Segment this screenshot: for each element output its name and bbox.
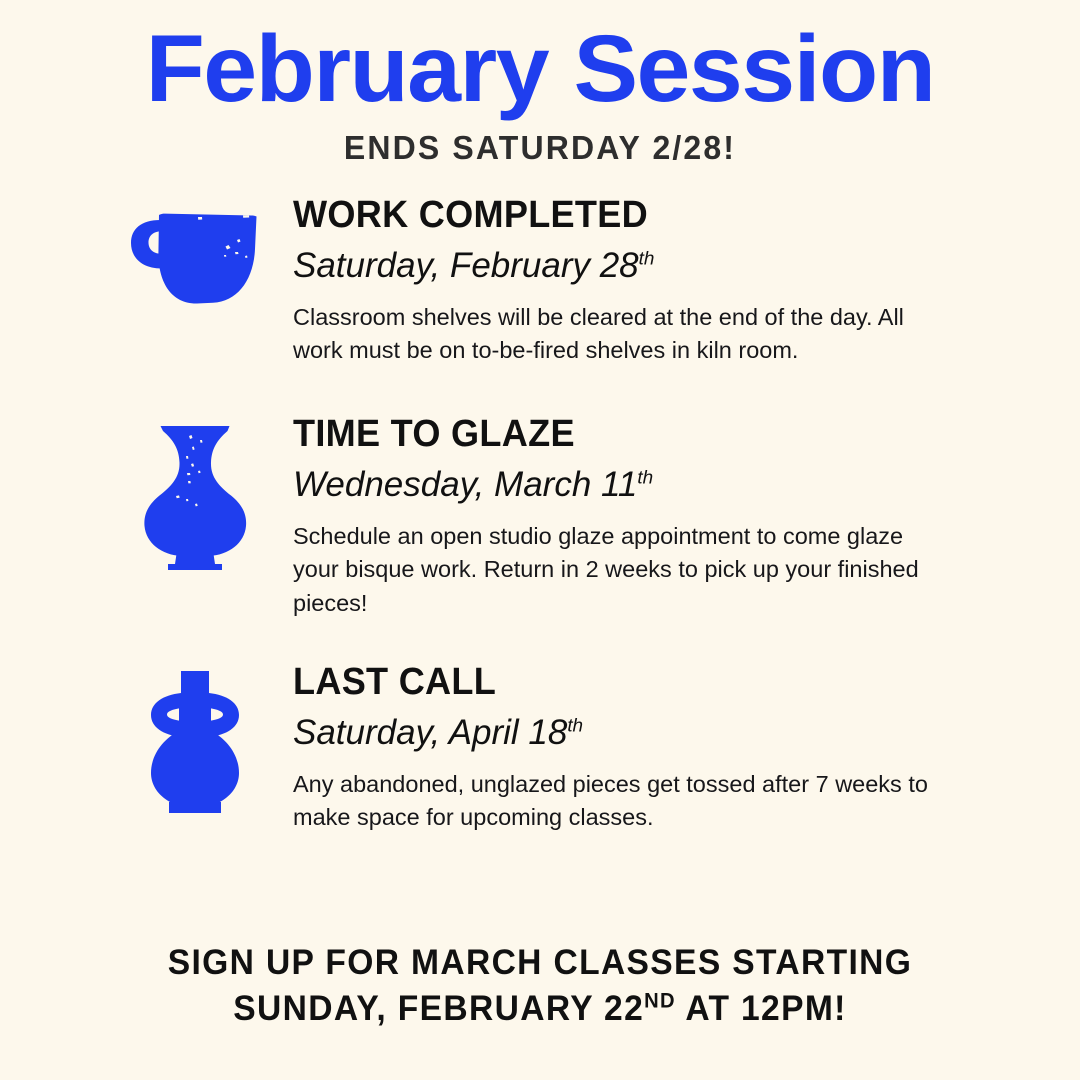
section-body: LAST CALL Saturday, April 18th Any aband…: [280, 663, 1080, 834]
amphora-icon: [110, 663, 280, 815]
section-last-call: LAST CALL Saturday, April 18th Any aband…: [0, 663, 1080, 834]
footer-date-before: SUNDAY, FEBRUARY 22: [233, 989, 644, 1028]
footer-line-2: SUNDAY, FEBRUARY 22ND AT 12PM!: [22, 986, 1059, 1032]
section-date: Saturday, February 28th: [293, 244, 948, 288]
poster-header: February Session ENDS SATURDAY 2/28!: [0, 0, 1080, 167]
section-date: Wednesday, March 11th: [293, 463, 948, 507]
section-date-main: Saturday, April 18: [293, 713, 567, 752]
mug-icon: [110, 196, 280, 314]
poster-canvas: February Session ENDS SATURDAY 2/28!: [0, 0, 1080, 1080]
page-title: February Session: [0, 22, 1080, 117]
page-subtitle: ENDS SATURDAY 2/28!: [16, 129, 1064, 167]
section-description: Schedule an open studio glaze appointmen…: [293, 520, 948, 620]
section-body: WORK COMPLETED Saturday, February 28th C…: [280, 196, 1080, 367]
poster-footer: SIGN UP FOR MARCH CLASSES STARTING SUNDA…: [0, 940, 1080, 1032]
footer-date-after: AT 12PM!: [676, 989, 847, 1028]
section-date-suffix: th: [567, 715, 583, 736]
section-date-suffix: th: [639, 248, 655, 269]
section-date: Saturday, April 18th: [293, 711, 948, 755]
section-body: TIME TO GLAZE Wednesday, March 11th Sche…: [280, 415, 1080, 620]
vase-icon: [110, 415, 280, 571]
section-heading: TIME TO GLAZE: [293, 415, 915, 455]
section-work-completed: WORK COMPLETED Saturday, February 28th C…: [0, 196, 1080, 367]
section-heading: LAST CALL: [293, 663, 915, 703]
section-date-main: Wednesday, March 11: [293, 465, 637, 504]
section-list: WORK COMPLETED Saturday, February 28th C…: [0, 196, 1080, 834]
footer-line-1: SIGN UP FOR MARCH CLASSES STARTING: [22, 940, 1059, 986]
section-description: Classroom shelves will be cleared at the…: [293, 301, 948, 368]
footer-date-suffix: ND: [644, 990, 676, 1013]
section-heading: WORK COMPLETED: [293, 196, 915, 236]
section-description: Any abandoned, unglazed pieces get tosse…: [293, 768, 948, 835]
section-date-main: Saturday, February 28: [293, 246, 639, 285]
section-time-to-glaze: TIME TO GLAZE Wednesday, March 11th Sche…: [0, 415, 1080, 620]
section-date-suffix: th: [637, 468, 653, 489]
